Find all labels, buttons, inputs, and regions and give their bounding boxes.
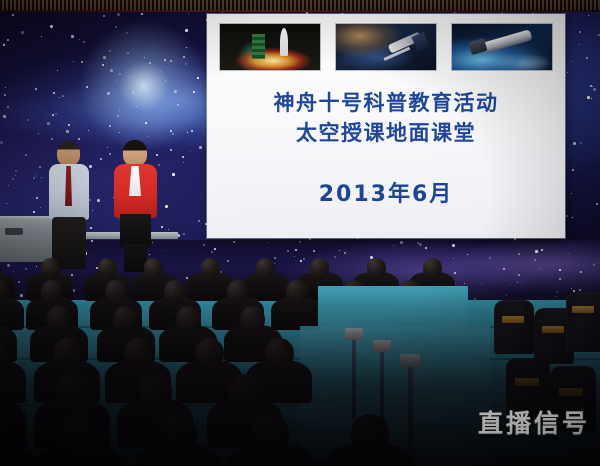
- rocket-launch-photo: [220, 24, 320, 70]
- female-presenter: [112, 140, 160, 272]
- audience-member-head: [251, 414, 289, 454]
- audience-member-head: [41, 280, 63, 303]
- audience-member-head: [229, 374, 262, 409]
- male-presenter: [46, 141, 94, 269]
- live-signal-watermark: 直播信号: [478, 404, 590, 440]
- audience-member-head: [227, 280, 249, 303]
- audience-member-head: [98, 258, 117, 278]
- slide-title: 神舟十号科普教育活动 太空授课地面课堂: [207, 88, 565, 148]
- audience-member-head: [164, 280, 186, 303]
- slide-title-line-1: 神舟十号科普教育活动: [207, 88, 565, 118]
- audience-member-head: [159, 414, 197, 454]
- male-presenter-head: [57, 141, 80, 166]
- female-presenter-head: [123, 140, 147, 166]
- spacecraft-over-earth-photo: [336, 24, 436, 70]
- audience-member-head: [60, 414, 98, 454]
- audience-member-head: [256, 258, 275, 278]
- broadcast-screenshot: 神舟十号科普教育活动 太空授课地面课堂 2013年6月: [0, 0, 600, 466]
- audience-member-head: [423, 258, 442, 278]
- ceiling-curtain: [0, 0, 600, 12]
- aisle-rail-cap-3: [400, 354, 420, 367]
- slide-title-line-2: 太空授课地面课堂: [207, 118, 565, 148]
- seat-number-plaque: [502, 316, 524, 323]
- slide-date: 2013年6月: [207, 176, 565, 208]
- audience-member-head: [144, 258, 163, 278]
- audience-member-head: [367, 258, 386, 278]
- audience-member-head: [53, 338, 82, 368]
- seat-number-plaque: [542, 326, 564, 333]
- audience-member-head: [41, 258, 60, 278]
- audience-member-head: [265, 338, 294, 368]
- audience-member-head: [240, 306, 265, 332]
- theater-seat: [566, 292, 600, 352]
- slide-thumbnail-row: [220, 24, 552, 72]
- audience-member-shoulders: [0, 360, 26, 404]
- seat-number-plaque: [559, 388, 583, 396]
- seat-number-plaque: [515, 378, 539, 386]
- aisle-rail-cap: [345, 328, 363, 340]
- aisle-rail-post-3: [408, 360, 413, 450]
- audience-member-head: [56, 374, 89, 409]
- audience-member-head: [310, 258, 329, 278]
- audience-member-head: [176, 306, 201, 332]
- aisle-rail-cap-2: [373, 340, 391, 352]
- seat-number-plaque: [572, 306, 594, 313]
- presentation-slide: 神舟十号科普教育活动 太空授课地面课堂 2013年6月: [207, 14, 565, 238]
- theater-seat: [494, 300, 534, 354]
- audience-member-head: [286, 280, 308, 303]
- audience-member-head: [351, 414, 389, 454]
- aisle-rail-post: [352, 334, 356, 420]
- audience-member-head: [47, 306, 72, 332]
- female-presenter-skirt: [120, 214, 151, 247]
- audience-member-head: [105, 280, 127, 303]
- audience-member-head: [124, 338, 153, 368]
- audience-member-head: [201, 258, 220, 278]
- audience-member-head: [195, 338, 224, 368]
- audience-member-head: [139, 374, 172, 409]
- audience-member-head: [113, 306, 138, 332]
- docking-module-photo: [452, 24, 552, 70]
